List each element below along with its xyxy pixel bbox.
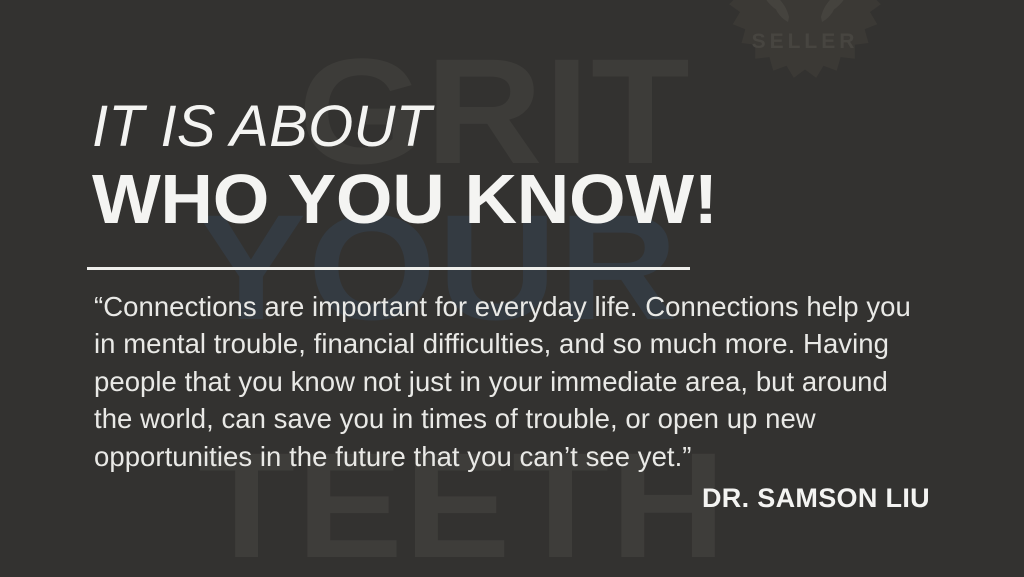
divider-rule	[87, 267, 690, 270]
quote-text: “Connections are important for everyday …	[94, 288, 926, 475]
quote-attribution: DR. SAMSON LIU	[0, 483, 1024, 514]
headline-kicker: IT IS ABOUT	[92, 98, 431, 156]
quote-slide: GRIT YOUR TEETH amazon SELLER IT IS ABOU…	[0, 0, 1024, 577]
svg-text:SELLER: SELLER	[752, 30, 859, 53]
headline-main: WHO YOU KNOW!	[92, 164, 718, 234]
amazon-seller-seal-icon: amazon SELLER	[709, 0, 901, 104]
